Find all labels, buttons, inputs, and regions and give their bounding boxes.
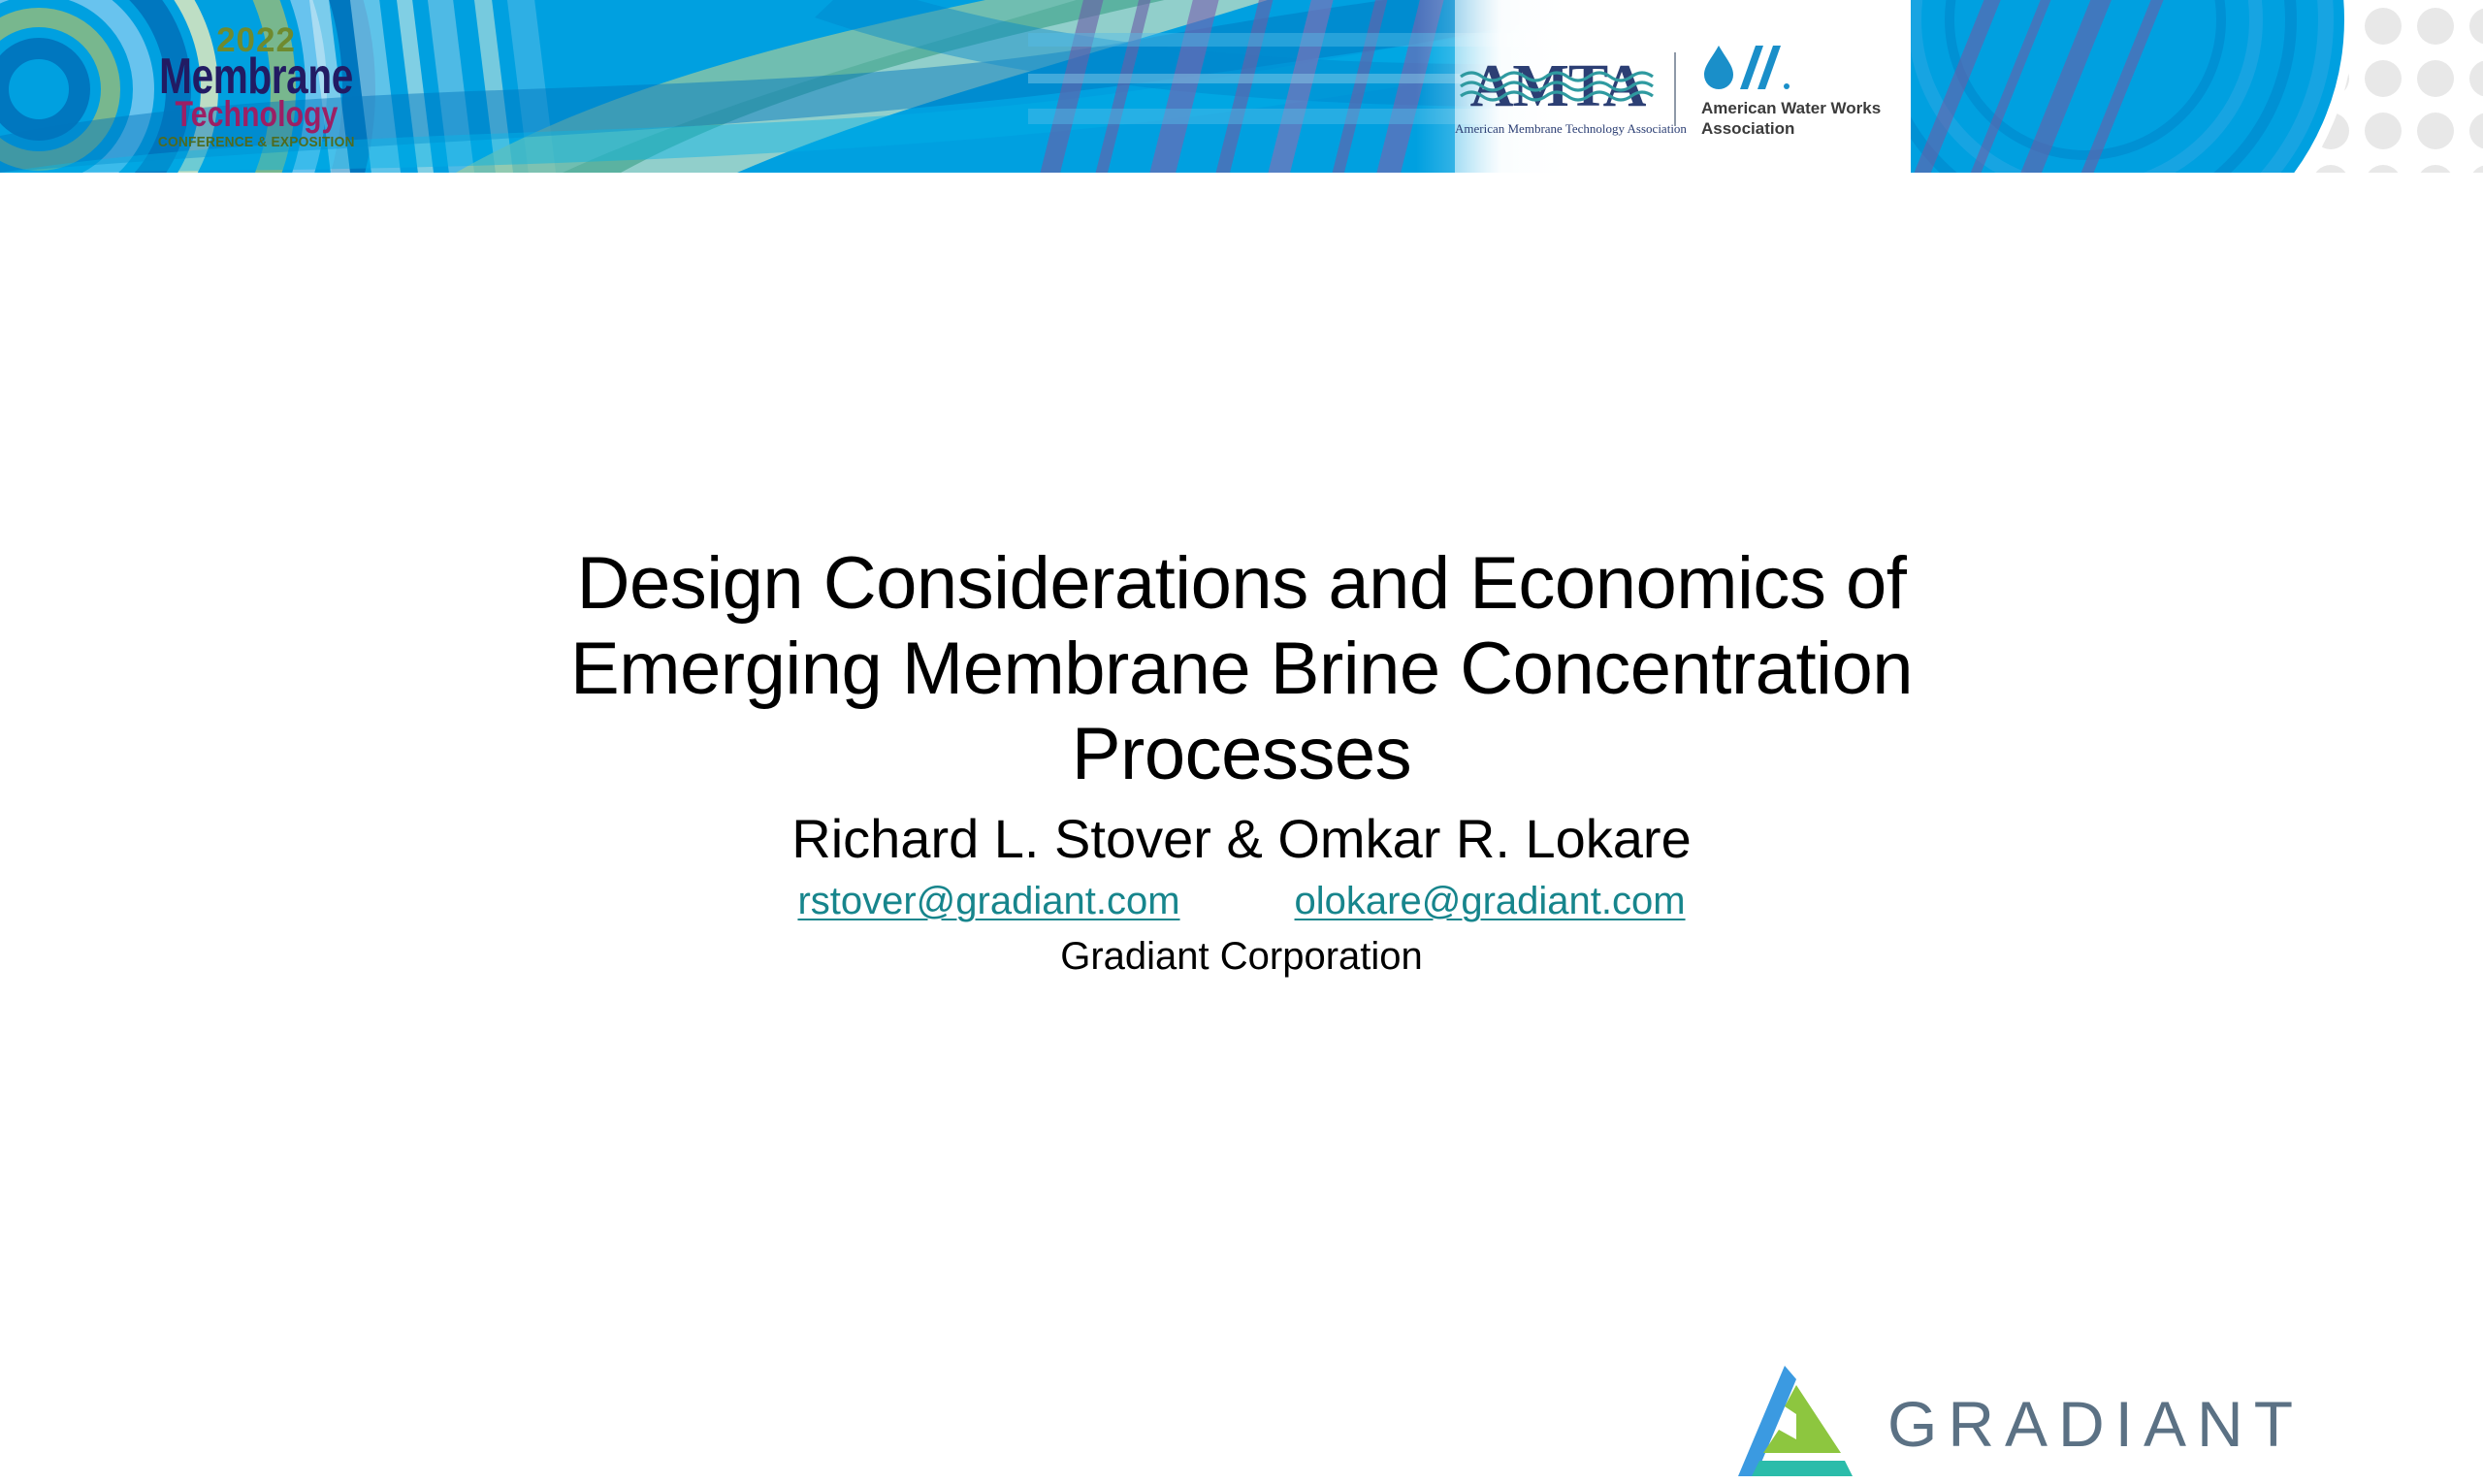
title-line-3: Processes <box>1072 713 1411 795</box>
amta-logo: AMTA American Membrane Technology Associ… <box>1455 48 1661 137</box>
authors-line: Richard L. Stover & Omkar R. Lokare <box>281 807 2202 871</box>
title-line-2: Emerging Membrane Brine Concentration <box>570 628 1913 710</box>
amta-acronym-icon: AMTA <box>1455 48 1661 121</box>
gradiant-logo: GRADIANT <box>1736 1364 2304 1484</box>
title-block: Design Considerations and Economics of E… <box>281 541 2202 979</box>
gradiant-wordmark: GRADIANT <box>1887 1392 2304 1456</box>
email-link-rstover[interactable]: rstover@gradiant.com <box>797 880 1179 923</box>
affiliation-line: Gradiant Corporation <box>281 935 2202 979</box>
gradiant-triangle-icon <box>1736 1364 1860 1484</box>
logo-divider <box>1674 52 1676 126</box>
slide-body: Design Considerations and Economics of E… <box>0 173 2483 1397</box>
conference-subtitle: CONFERENCE & EXPOSITION <box>158 135 355 149</box>
title-line-1: Design Considerations and Economics of <box>577 542 1907 625</box>
association-logos: AMTA American Membrane Technology Associ… <box>1455 0 1911 173</box>
page-title: Design Considerations and Economics of E… <box>281 541 2202 797</box>
slide-header-banner: 2022 Membrane Technology CONFERENCE & EX… <box>0 0 2483 173</box>
email-link-olokare[interactable]: olokare@gradiant.com <box>1295 880 1686 923</box>
awwa-water-drop-icon <box>1701 42 1790 92</box>
awwa-logo: American Water Works Association <box>1701 42 1881 138</box>
awwa-name-line-2: Association <box>1701 119 1794 138</box>
membrane-technology-conference-logo: 2022 Membrane Technology CONFERENCE & EX… <box>136 0 376 173</box>
svg-text:AMTA: AMTA <box>1470 53 1647 119</box>
awwa-full-name: American Water Works Association <box>1701 99 1881 138</box>
conference-title-technology: Technology <box>175 96 338 132</box>
awwa-name-line-1: American Water Works <box>1701 99 1881 117</box>
email-links: rstover@gradiant.com olokare@gradiant.co… <box>281 880 2202 923</box>
amta-full-name: American Membrane Technology Association <box>1455 121 1661 137</box>
